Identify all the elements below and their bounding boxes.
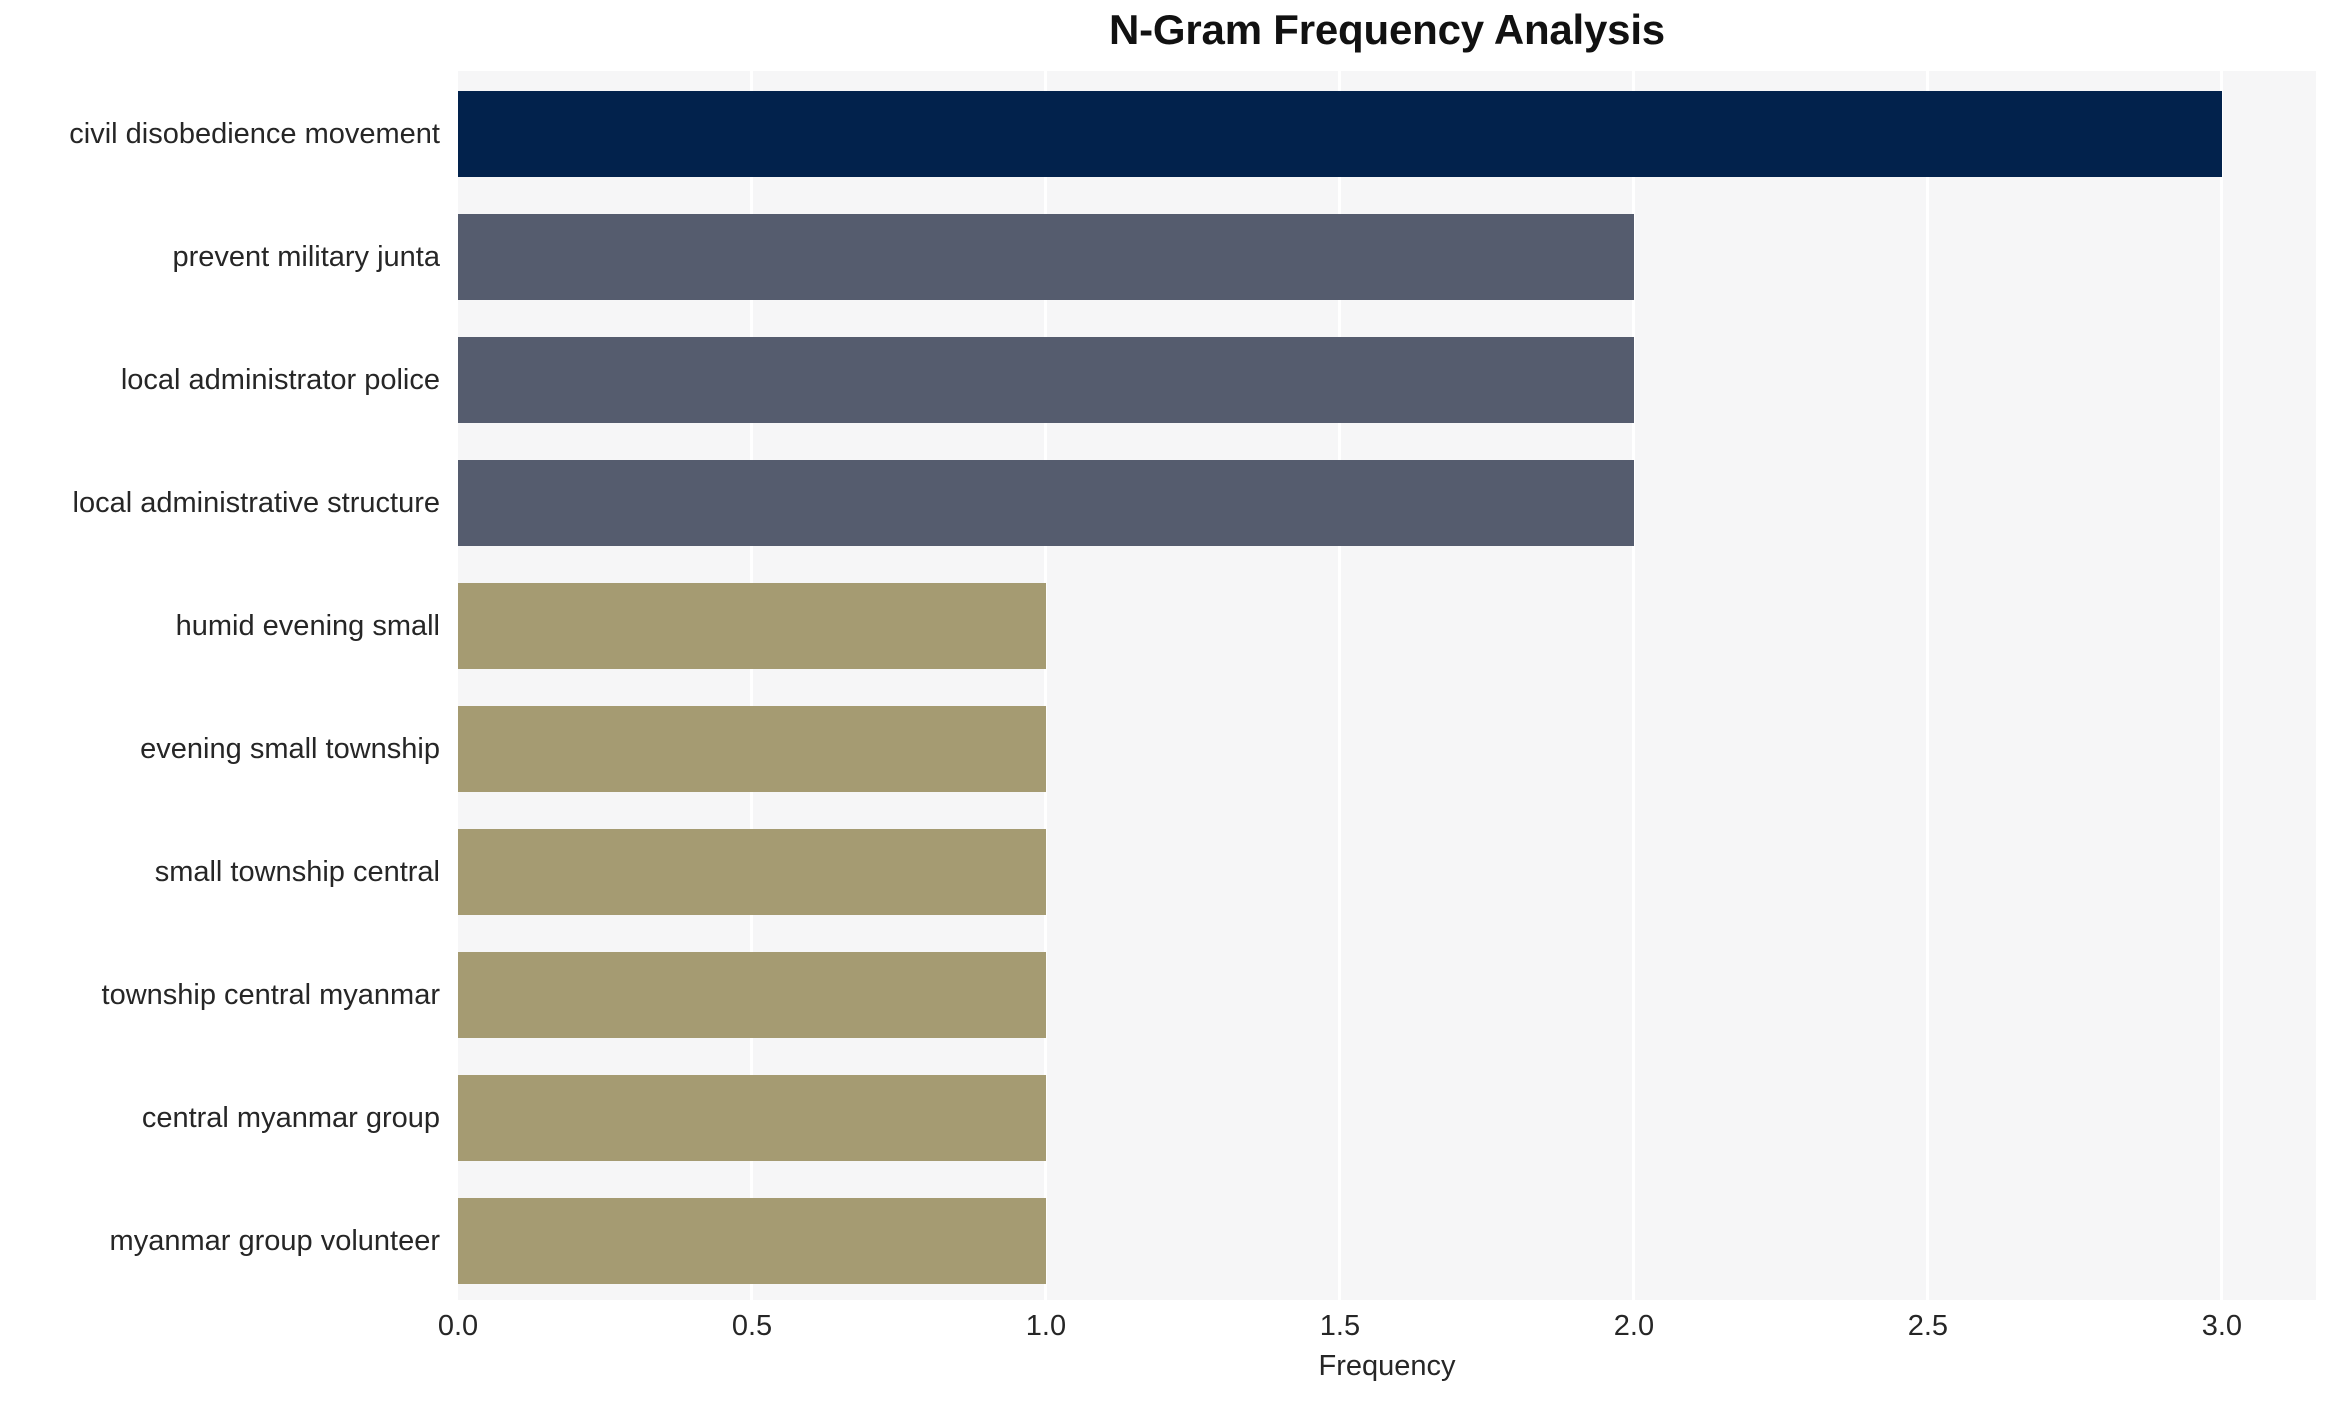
bar[interactable] <box>458 583 1046 669</box>
y-axis-tick-label: township central myanmar <box>0 978 440 1012</box>
y-axis-tick-label: local administrative structure <box>0 486 440 520</box>
y-axis-tick-label: civil disobedience movement <box>0 117 440 151</box>
y-axis-tick-label: central myanmar group <box>0 1101 440 1135</box>
x-axis-tick-label: 0.0 <box>378 1308 538 1344</box>
bar[interactable] <box>458 91 2222 177</box>
bar[interactable] <box>458 337 1634 423</box>
x-axis-tick-labels: 0.00.51.01.52.02.53.0 <box>0 1308 2336 1352</box>
chart-title: N-Gram Frequency Analysis <box>458 4 2316 56</box>
y-axis-tick-label: evening small township <box>0 732 440 766</box>
bar[interactable] <box>458 460 1634 546</box>
x-axis-tick-label: 0.5 <box>672 1308 832 1344</box>
x-axis-tick-label: 3.0 <box>2142 1308 2302 1344</box>
bar[interactable] <box>458 1075 1046 1161</box>
y-axis-tick-label: small township central <box>0 855 440 889</box>
chart-figure: N-Gram Frequency Analysis civil disobedi… <box>0 0 2336 1402</box>
bar[interactable] <box>458 829 1046 915</box>
x-axis-title: Frequency <box>458 1348 2316 1384</box>
y-axis-tick-label: myanmar group volunteer <box>0 1224 440 1258</box>
bars-layer <box>458 71 2316 1300</box>
y-axis-tick-label: prevent military junta <box>0 240 440 274</box>
x-axis-tick-label: 1.5 <box>1260 1308 1420 1344</box>
x-axis-tick-label: 2.0 <box>1554 1308 1714 1344</box>
bar[interactable] <box>458 952 1046 1038</box>
y-axis-tick-label: local administrator police <box>0 363 440 397</box>
y-axis-tick-label: humid evening small <box>0 609 440 643</box>
y-axis-tick-labels: civil disobedience movementprevent milit… <box>0 71 440 1300</box>
x-axis-tick-label: 2.5 <box>1848 1308 2008 1344</box>
plot-area <box>458 71 2316 1300</box>
bar[interactable] <box>458 706 1046 792</box>
x-axis-tick-label: 1.0 <box>966 1308 1126 1344</box>
bar[interactable] <box>458 214 1634 300</box>
bar[interactable] <box>458 1198 1046 1284</box>
